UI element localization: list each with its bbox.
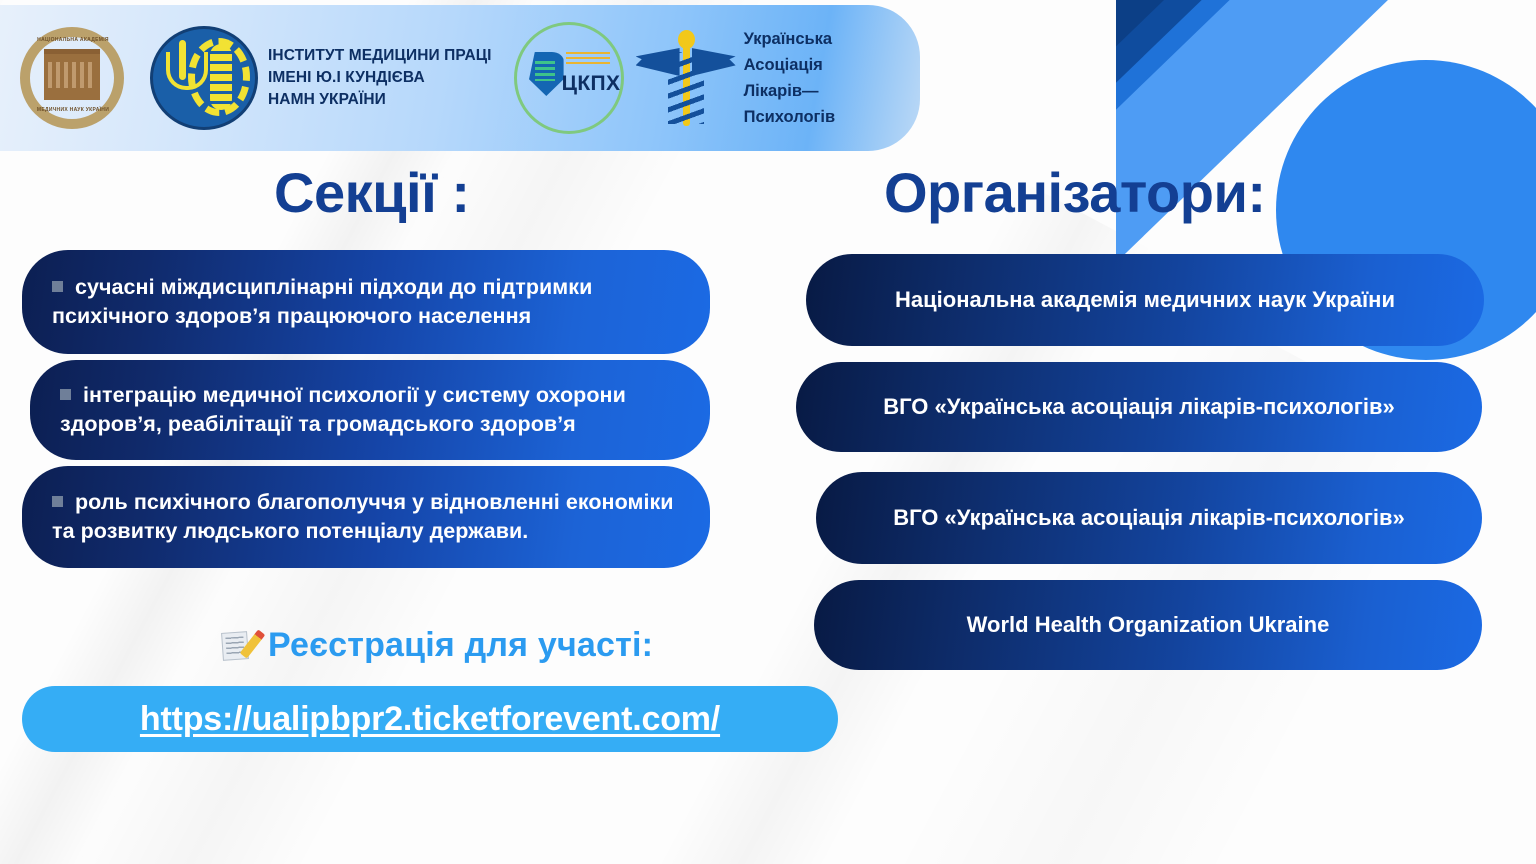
logo-institute: ІНСТИТУТ МЕДИЦИНИ ПРАЦІ ІМЕНІ Ю.І КУНДІЄ… [150,26,514,130]
ualp-title-line4: Психологів [744,104,836,130]
organizer-pill-text: World Health Organization Ukraine [967,612,1330,638]
registration-label-row: Реєстрація для участі: [222,626,653,665]
snake-icon [179,40,186,80]
caduceus-orb [678,30,695,49]
ualp-title-line1: Українська [744,26,836,52]
bullet-square-icon [52,496,63,507]
bowl-of-hygieia-icon [166,52,208,90]
organizer-pill: Національна академія медичних наук Украї… [806,254,1484,346]
organizer-pill-text: Національна академія медичних наук Украї… [895,287,1395,313]
memo-pencil-icon [222,630,256,662]
section-pill: сучасні міждисциплінарні підходи до підт… [22,250,710,354]
namn-emblem-top-text: НАЦІОНАЛЬНА АКАДЕМІЯ [14,37,132,43]
organizer-pill-text: ВГО «Українська асоціація лікарів-психол… [883,394,1395,420]
sections-heading: Секції : [274,160,470,225]
section-pill-text: сучасні міждисциплінарні підходи до підт… [52,275,592,328]
bullet-square-icon [60,389,71,400]
registration-label: Реєстрація для участі: [268,626,653,665]
institute-title-line3: НАМН УКРАЇНИ [268,89,492,111]
organizer-pill: ВГО «Українська асоціація лікарів-психол… [816,472,1482,564]
organizers-heading: Організатори: [884,160,1266,225]
ualp-title: Українська Асоціація Лікарів— Психологів [744,26,836,130]
namn-wreath-icon: НАЦІОНАЛЬНА АКАДЕМІЯ МЕДИЧНИХ НАУК УКРАЇ… [14,23,132,133]
ualp-title-line2: Асоціація [744,52,836,78]
registration-url-text[interactable]: https://ualipbpr2.ticketforevent.com/ [140,700,720,739]
organizer-pill-text: ВГО «Українська асоціація лікарів-психол… [893,505,1405,531]
section-pill-text: інтеграцію медичної психології у систему… [60,383,626,436]
namn-emblem-bottom-text: МЕДИЧНИХ НАУК УКРАЇНИ [14,107,132,113]
ckph-micro-text [566,52,610,66]
institute-title-line2: ІМЕНІ Ю.І КУНДІЄВА [268,67,492,89]
section-pill-text: роль психічного благополуччя у відновлен… [52,490,674,543]
caduceus-snakes [668,52,704,124]
caduceus-icon [638,26,734,130]
institute-oval-icon [150,26,258,130]
section-pill: інтеграцію медичної психології у систему… [30,360,710,460]
wheat-icon [210,44,232,110]
institute-title: ІНСТИТУТ МЕДИЦИНИ ПРАЦІ ІМЕНІ Ю.І КУНДІЄ… [268,45,492,111]
ckph-circle-icon: ЦКПХ [514,22,624,134]
organizer-pill: World Health Organization Ukraine [814,580,1482,670]
registration-url-button[interactable]: https://ualipbpr2.ticketforevent.com/ [22,686,838,752]
institute-title-line1: ІНСТИТУТ МЕДИЦИНИ ПРАЦІ [268,45,492,67]
logo-ualp: Українська Асоціація Лікарів— Психологів [638,26,836,130]
slide-root: НАЦІОНАЛЬНА АКАДЕМІЯ МЕДИЧНИХ НАУК УКРАЇ… [0,0,1536,864]
bullet-square-icon [52,281,63,292]
ckph-abbr: ЦКПХ [562,72,621,96]
logo-ckph: ЦКПХ [514,22,638,134]
ualp-title-line3: Лікарів— [744,78,836,104]
logo-namn: НАЦІОНАЛЬНА АКАДЕМІЯ МЕДИЧНИХ НАУК УКРАЇ… [14,23,150,133]
academy-building-icon [44,49,100,100]
organizer-pill: ВГО «Українська асоціація лікарів-психол… [796,362,1482,452]
header-logo-bar: НАЦІОНАЛЬНА АКАДЕМІЯ МЕДИЧНИХ НАУК УКРАЇ… [0,5,920,151]
section-pill: роль психічного благополуччя у відновлен… [22,466,710,568]
